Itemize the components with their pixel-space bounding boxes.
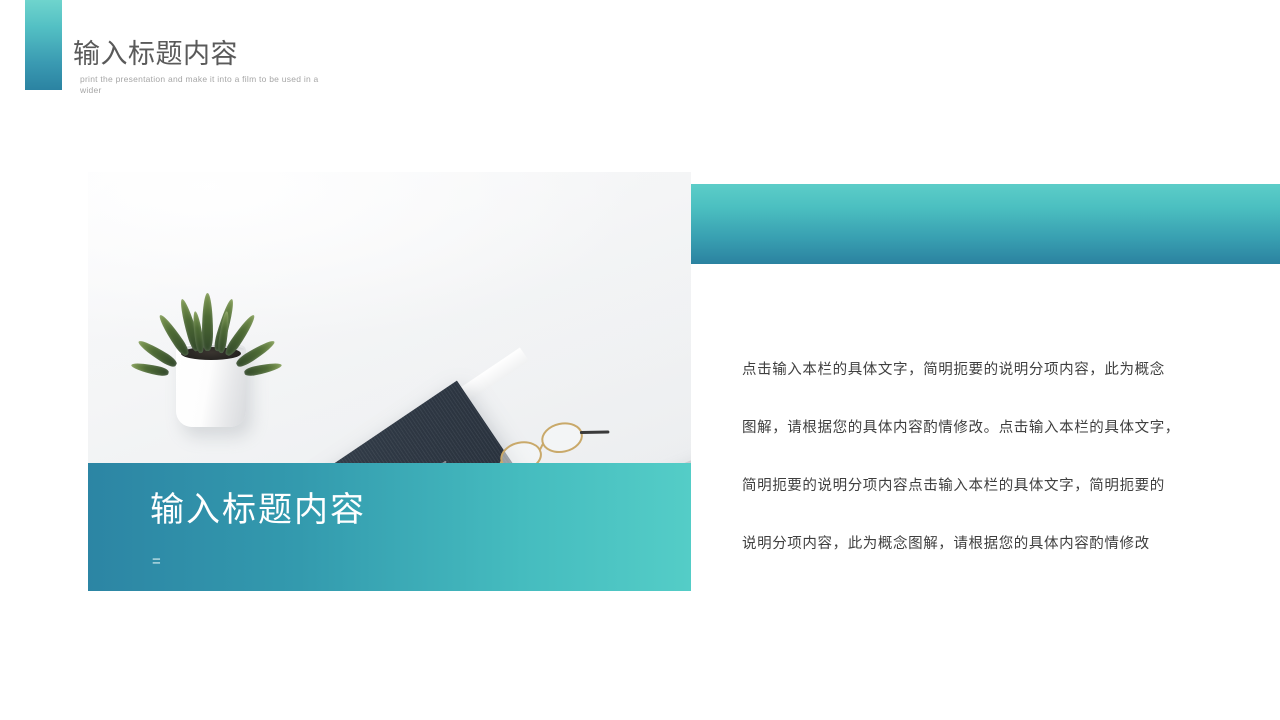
photo-title-subtitle: =: [152, 553, 162, 571]
photo-title-box[interactable]: 输入标题内容 =: [88, 463, 691, 591]
page-title: 输入标题内容: [73, 38, 238, 70]
photo-card[interactable]: [88, 172, 691, 463]
header-accent-bar: [25, 0, 62, 90]
page-subtitle: print the presentation and make it into …: [80, 74, 330, 96]
right-accent-banner: [691, 184, 1280, 264]
body-text-line: 点击输入本栏的具体文字，简明扼要的说明分项内容，此为概念: [742, 362, 1212, 378]
body-text-line: 说明分项内容，此为概念图解，请根据您的具体内容酌情修改: [742, 536, 1212, 552]
desk-photo: [88, 172, 691, 463]
slide-canvas: 输入标题内容 print the presentation and make i…: [0, 0, 1280, 720]
photo-title: 输入标题内容: [150, 489, 366, 531]
plant-pot: [176, 345, 246, 427]
body-text-line: 图解，请根据您的具体内容酌情修改。点击输入本栏的具体文字，: [742, 420, 1212, 436]
body-text-line: 简明扼要的说明分项内容点击输入本栏的具体文字，简明扼要的: [742, 478, 1212, 494]
body-text-block: 点击输入本栏的具体文字，简明扼要的说明分项内容，此为概念 图解，请根据您的具体内…: [742, 362, 1212, 552]
